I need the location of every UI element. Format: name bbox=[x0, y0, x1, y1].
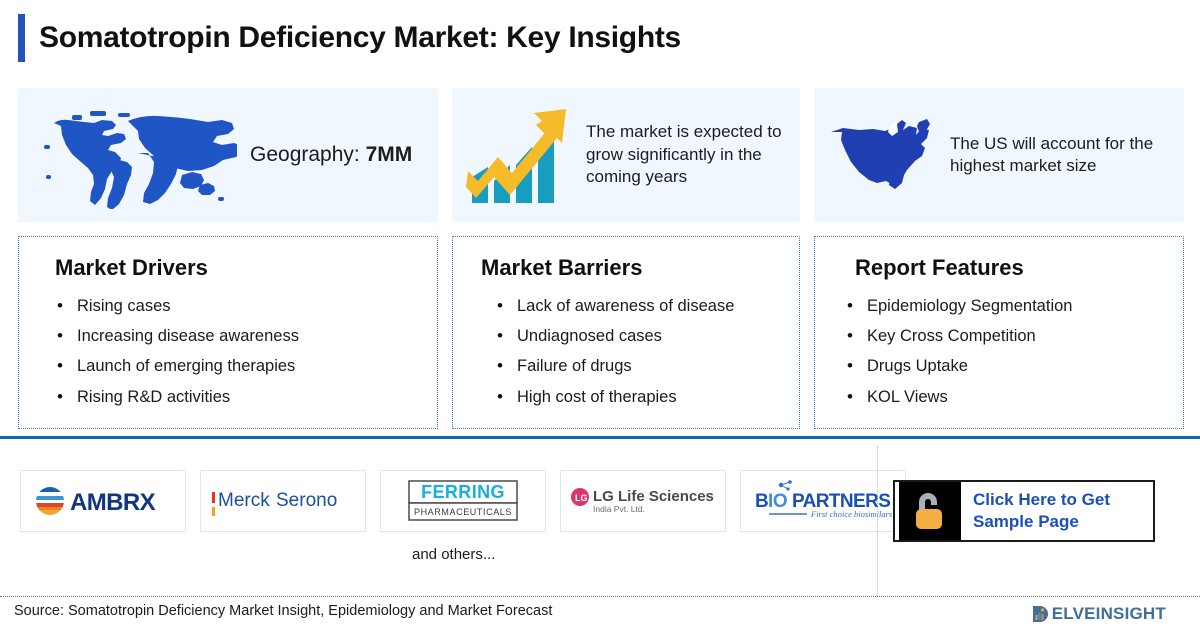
get-sample-page-button[interactable]: Click Here to Get Sample Page bbox=[893, 480, 1155, 542]
card-market-drivers: Market Drivers Rising cases Increasing d… bbox=[18, 236, 438, 429]
svg-text:FERRING: FERRING bbox=[421, 482, 505, 502]
infographic-page: Somatotropin Deficiency Market: Key Insi… bbox=[0, 0, 1200, 630]
svg-text:Merck: Merck bbox=[218, 490, 270, 511]
growth-text: The market is expected to grow significa… bbox=[586, 121, 790, 188]
cta-label: Click Here to Get Sample Page bbox=[961, 482, 1153, 540]
list-item: Increasing disease awareness bbox=[55, 321, 423, 351]
list-item: KOL Views bbox=[845, 382, 1169, 412]
us-map-icon bbox=[824, 114, 942, 196]
card-list: Rising cases Increasing disease awarenes… bbox=[55, 291, 423, 412]
world-map-icon bbox=[28, 101, 240, 209]
cta-divider bbox=[877, 446, 878, 596]
svg-text:IO: IO bbox=[768, 491, 787, 512]
list-item: Failure of drugs bbox=[495, 351, 785, 381]
svg-text:LG Life Sciences: LG Life Sciences bbox=[593, 488, 714, 505]
logo-box-ambrx: AMBRX bbox=[20, 470, 186, 532]
list-item: Drugs Uptake bbox=[845, 351, 1169, 381]
content-grid: Geography: 7MM The market is bbox=[18, 88, 1182, 429]
list-item: High cost of therapies bbox=[495, 382, 785, 412]
list-item: Undiagnosed cases bbox=[495, 321, 785, 351]
delveinsight-mark bbox=[1031, 604, 1051, 624]
growth-chart-icon bbox=[462, 99, 578, 211]
page-header: Somatotropin Deficiency Market: Key Insi… bbox=[18, 14, 681, 62]
svg-text:LG: LG bbox=[575, 493, 588, 503]
highlight-panel-growth: The market is expected to grow significa… bbox=[452, 88, 800, 222]
highlight-panel-us: The US will account for the highest mark… bbox=[814, 88, 1184, 222]
us-text: The US will account for the highest mark… bbox=[950, 133, 1174, 178]
list-item: Lack of awareness of disease bbox=[495, 291, 785, 321]
highlight-panel-geography: Geography: 7MM bbox=[18, 88, 438, 222]
svg-text:Serono: Serono bbox=[276, 490, 337, 511]
card-list: Lack of awareness of disease Undiagnosed… bbox=[495, 291, 785, 412]
card-market-barriers: Market Barriers Lack of awareness of dis… bbox=[452, 236, 800, 429]
card-report-features: Report Features Epidemiology Segmentatio… bbox=[814, 236, 1184, 429]
card-title: Market Drivers bbox=[55, 255, 423, 281]
list-item: Launch of emerging therapies bbox=[55, 351, 423, 381]
section-divider bbox=[0, 436, 1200, 439]
logo-box-biopartners: B IO PARTNERS First choice biosimilars bbox=[740, 470, 906, 532]
list-item: Rising cases bbox=[55, 291, 423, 321]
svg-text:B: B bbox=[755, 491, 768, 512]
list-item: Rising R&D activities bbox=[55, 382, 423, 412]
svg-text:PHARMACEUTICALS: PHARMACEUTICALS bbox=[414, 507, 512, 517]
svg-text:First choice biosimilars: First choice biosimilars bbox=[810, 509, 893, 519]
logo-box-lg-life-sciences: LG LG Life Sciences India Pvt. Ltd. bbox=[560, 470, 726, 532]
card-title: Market Barriers bbox=[481, 255, 785, 281]
card-title: Report Features bbox=[855, 255, 1169, 281]
list-item: Key Cross Competition bbox=[845, 321, 1169, 351]
and-others-label: and others... bbox=[412, 546, 495, 563]
logo-box-ferring: FERRING PHARMACEUTICALS bbox=[380, 470, 546, 532]
company-logos-strip: AMBRX Merck Serono FERRING PHARMACEUTICA… bbox=[20, 470, 906, 532]
merck-serono-logo: Merck Serono bbox=[204, 480, 362, 522]
ferring-logo: FERRING PHARMACEUTICALS bbox=[393, 477, 533, 525]
delveinsight-logo: ELVEINSIGHT bbox=[1031, 604, 1166, 624]
svg-text:India Pvt. Ltd.: India Pvt. Ltd. bbox=[593, 504, 645, 514]
page-title: Somatotropin Deficiency Market: Key Insi… bbox=[39, 21, 681, 55]
lg-life-sciences-logo: LG LG Life Sciences India Pvt. Ltd. bbox=[564, 480, 722, 522]
footer-divider bbox=[0, 596, 1200, 597]
list-item: Epidemiology Segmentation bbox=[845, 291, 1169, 321]
open-padlock-icon bbox=[895, 482, 961, 540]
source-note: Source: Somatotropin Deficiency Market I… bbox=[14, 603, 552, 619]
geography-label: Geography: 7MM bbox=[250, 141, 412, 169]
delveinsight-wordmark: ELVEINSIGHT bbox=[1052, 604, 1166, 624]
title-accent-bar bbox=[18, 14, 25, 62]
card-list: Epidemiology Segmentation Key Cross Comp… bbox=[845, 291, 1169, 412]
ambrx-logo: AMBRX bbox=[28, 481, 178, 521]
logo-box-merck-serono: Merck Serono bbox=[200, 470, 366, 532]
svg-text:AMBRX: AMBRX bbox=[70, 489, 156, 516]
